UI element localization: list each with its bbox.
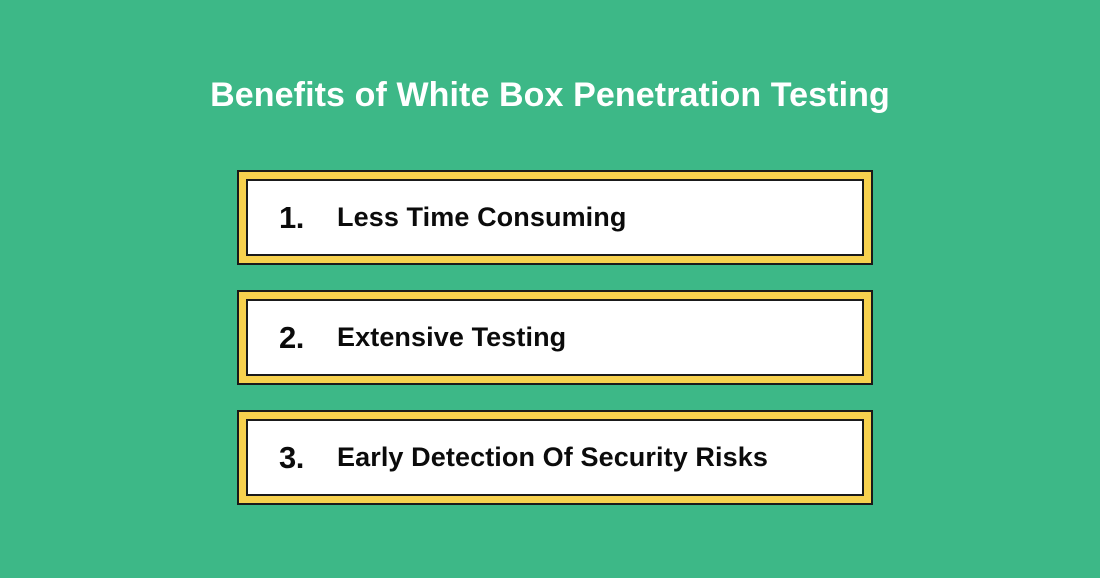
benefit-number: 3. <box>279 442 337 473</box>
benefit-card-2-inner: 2. Extensive Testing <box>246 299 864 376</box>
benefit-label: Less Time Consuming <box>337 203 626 233</box>
benefit-card-1-inner: 1. Less Time Consuming <box>246 179 864 256</box>
benefit-number: 2. <box>279 322 337 353</box>
page-title: Benefits of White Box Penetration Testin… <box>0 74 1100 116</box>
benefit-card-1: 1. Less Time Consuming <box>237 170 873 265</box>
benefit-label: Early Detection Of Security Risks <box>337 443 768 473</box>
benefit-card-3: 3. Early Detection Of Security Risks <box>237 410 873 505</box>
benefit-label: Extensive Testing <box>337 323 566 353</box>
benefits-poster: Benefits of White Box Penetration Testin… <box>0 0 1100 578</box>
benefits-list: 1. Less Time Consuming 2. Extensive Test… <box>237 170 873 505</box>
benefit-card-3-inner: 3. Early Detection Of Security Risks <box>246 419 864 496</box>
benefit-number: 1. <box>279 202 337 233</box>
benefit-card-2: 2. Extensive Testing <box>237 290 873 385</box>
